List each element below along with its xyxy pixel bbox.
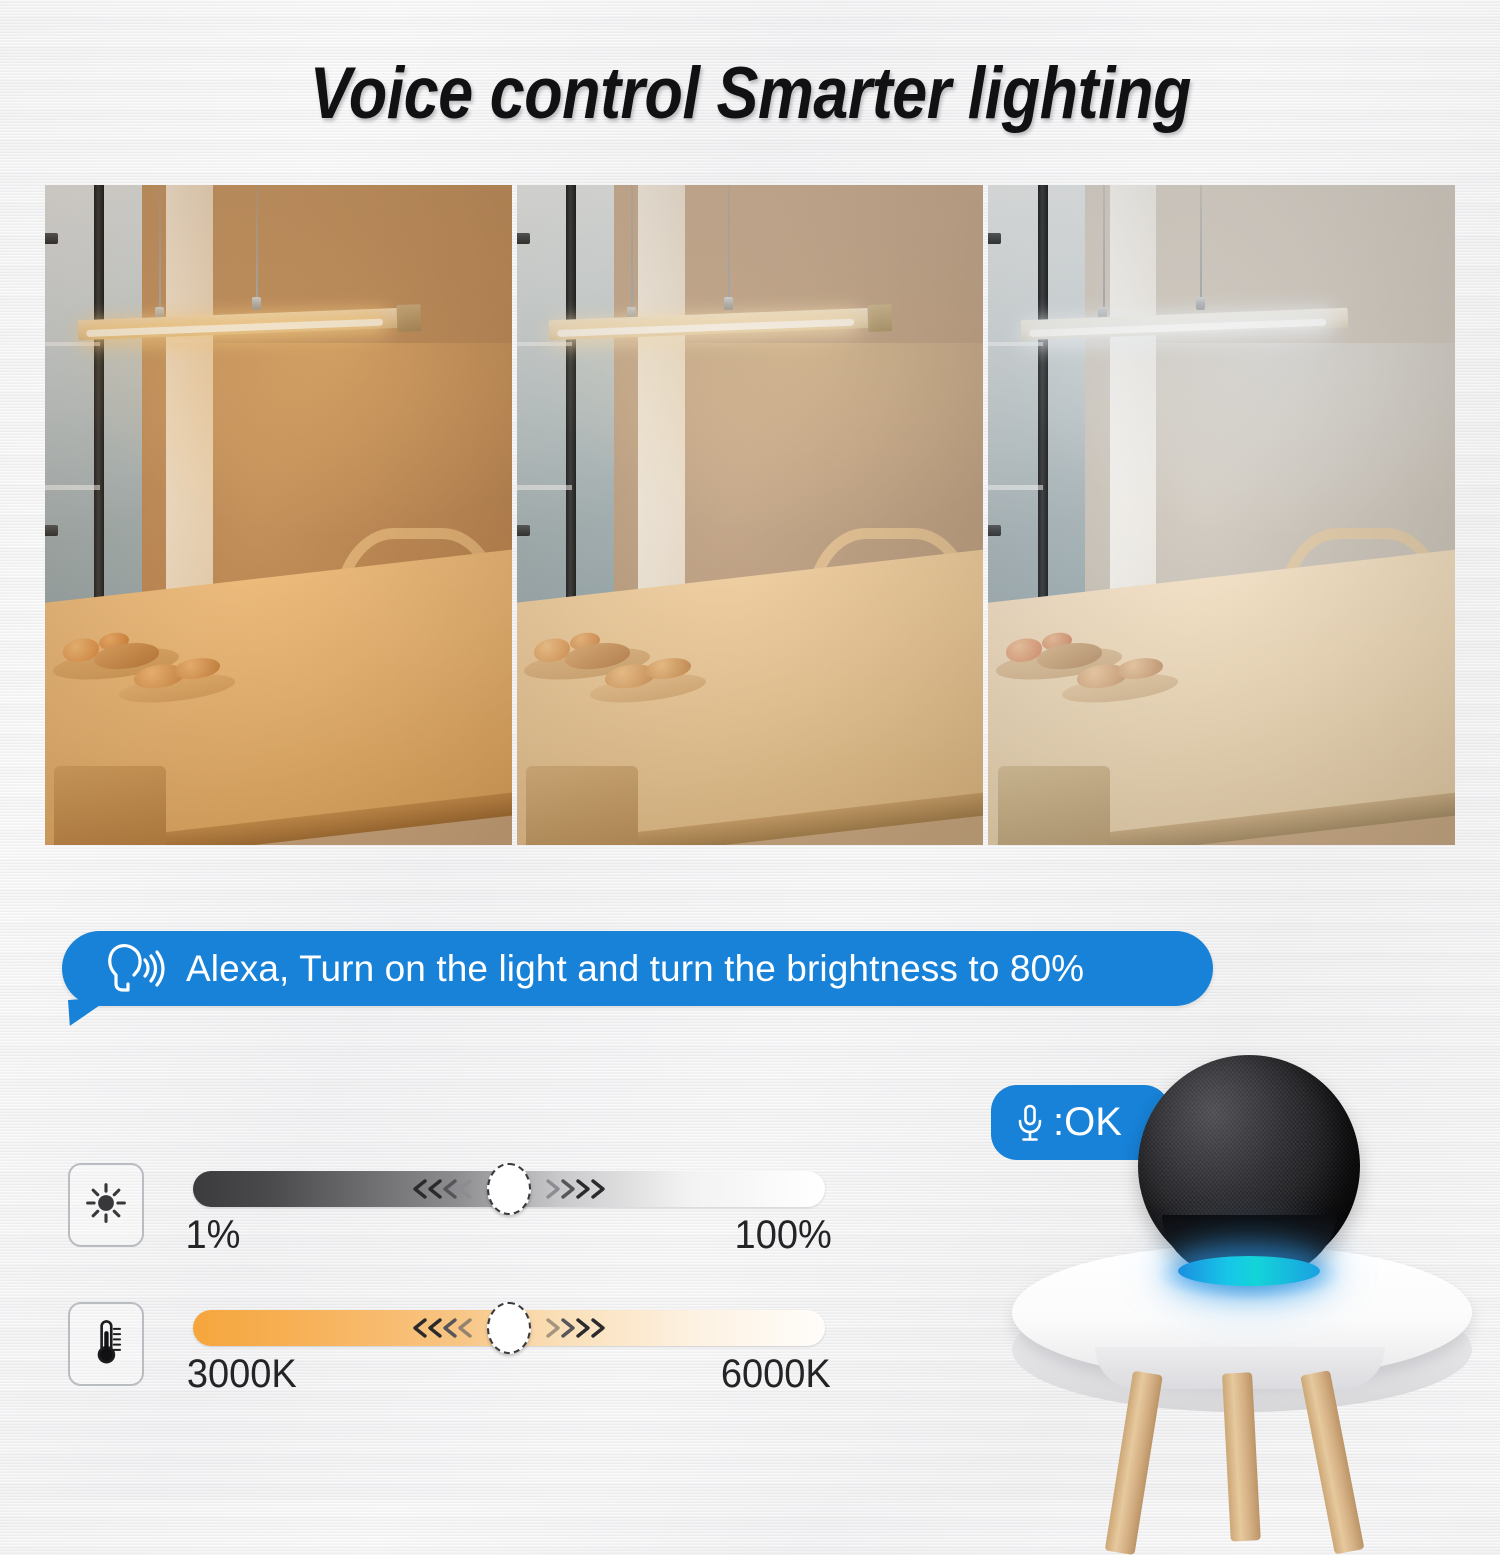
sun-icon xyxy=(84,1181,128,1230)
foreground-chair xyxy=(54,766,166,845)
table-leg xyxy=(1105,1371,1163,1555)
color-temperature-track[interactable] xyxy=(193,1310,825,1346)
increase-chevrons-icon[interactable] xyxy=(535,1176,611,1202)
echo-light-ring xyxy=(1178,1256,1320,1286)
thermometer-icon-box xyxy=(68,1302,144,1386)
brightness-thumb[interactable] xyxy=(487,1163,531,1215)
voice-command-text: Alexa, Turn on the light and turn the br… xyxy=(186,948,1084,990)
table-leg xyxy=(1300,1370,1364,1554)
foreground-chair xyxy=(998,766,1110,845)
color-temperature-min-label: 3000K xyxy=(187,1352,297,1397)
cooler-chevrons-icon[interactable] xyxy=(535,1315,611,1341)
brightness-slider[interactable]: 1% 100% xyxy=(193,1171,825,1258)
echo-dot-stage xyxy=(1000,1055,1500,1500)
speaking-head-icon xyxy=(104,940,166,998)
color-temperature-range-labels: 3000K 6000K xyxy=(184,1352,834,1397)
bubble-tail xyxy=(68,997,114,1026)
product-photo-warm xyxy=(45,185,512,845)
sun-icon-box xyxy=(68,1163,144,1247)
lamp-cord-left xyxy=(631,185,633,310)
lamp-cord-right xyxy=(256,185,258,301)
brightness-max-label: 100% xyxy=(734,1213,831,1258)
echo-dot-speaker[interactable] xyxy=(1138,1055,1360,1277)
product-photo-neutral xyxy=(517,185,984,845)
lamp-cord-left xyxy=(159,185,161,310)
color-temperature-max-label: 6000K xyxy=(721,1352,831,1397)
color-temperature-thumb[interactable] xyxy=(487,1302,531,1354)
lamp-cord-left xyxy=(1103,185,1105,310)
voice-command-bubble[interactable]: Alexa, Turn on the light and turn the br… xyxy=(62,931,1213,1006)
decrease-chevrons-icon[interactable] xyxy=(407,1176,483,1202)
lamp-cord-right xyxy=(728,185,730,301)
product-photo-strip xyxy=(45,185,1455,845)
thermometer-icon xyxy=(85,1317,127,1372)
lamp-cord-right xyxy=(1200,185,1202,301)
page-title-container: Voice control Smarter lighting xyxy=(0,52,1500,135)
page-title: Voice control Smarter lighting xyxy=(309,52,1190,135)
brightness-range-labels: 1% 100% xyxy=(184,1213,834,1258)
brightness-track[interactable] xyxy=(193,1171,825,1207)
table-leg xyxy=(1222,1372,1261,1541)
warmer-chevrons-icon[interactable] xyxy=(407,1315,483,1341)
product-photo-cool xyxy=(988,185,1455,845)
brightness-min-label: 1% xyxy=(185,1213,240,1258)
foreground-chair xyxy=(526,766,638,845)
color-temperature-slider[interactable]: 3000K 6000K xyxy=(193,1310,825,1397)
